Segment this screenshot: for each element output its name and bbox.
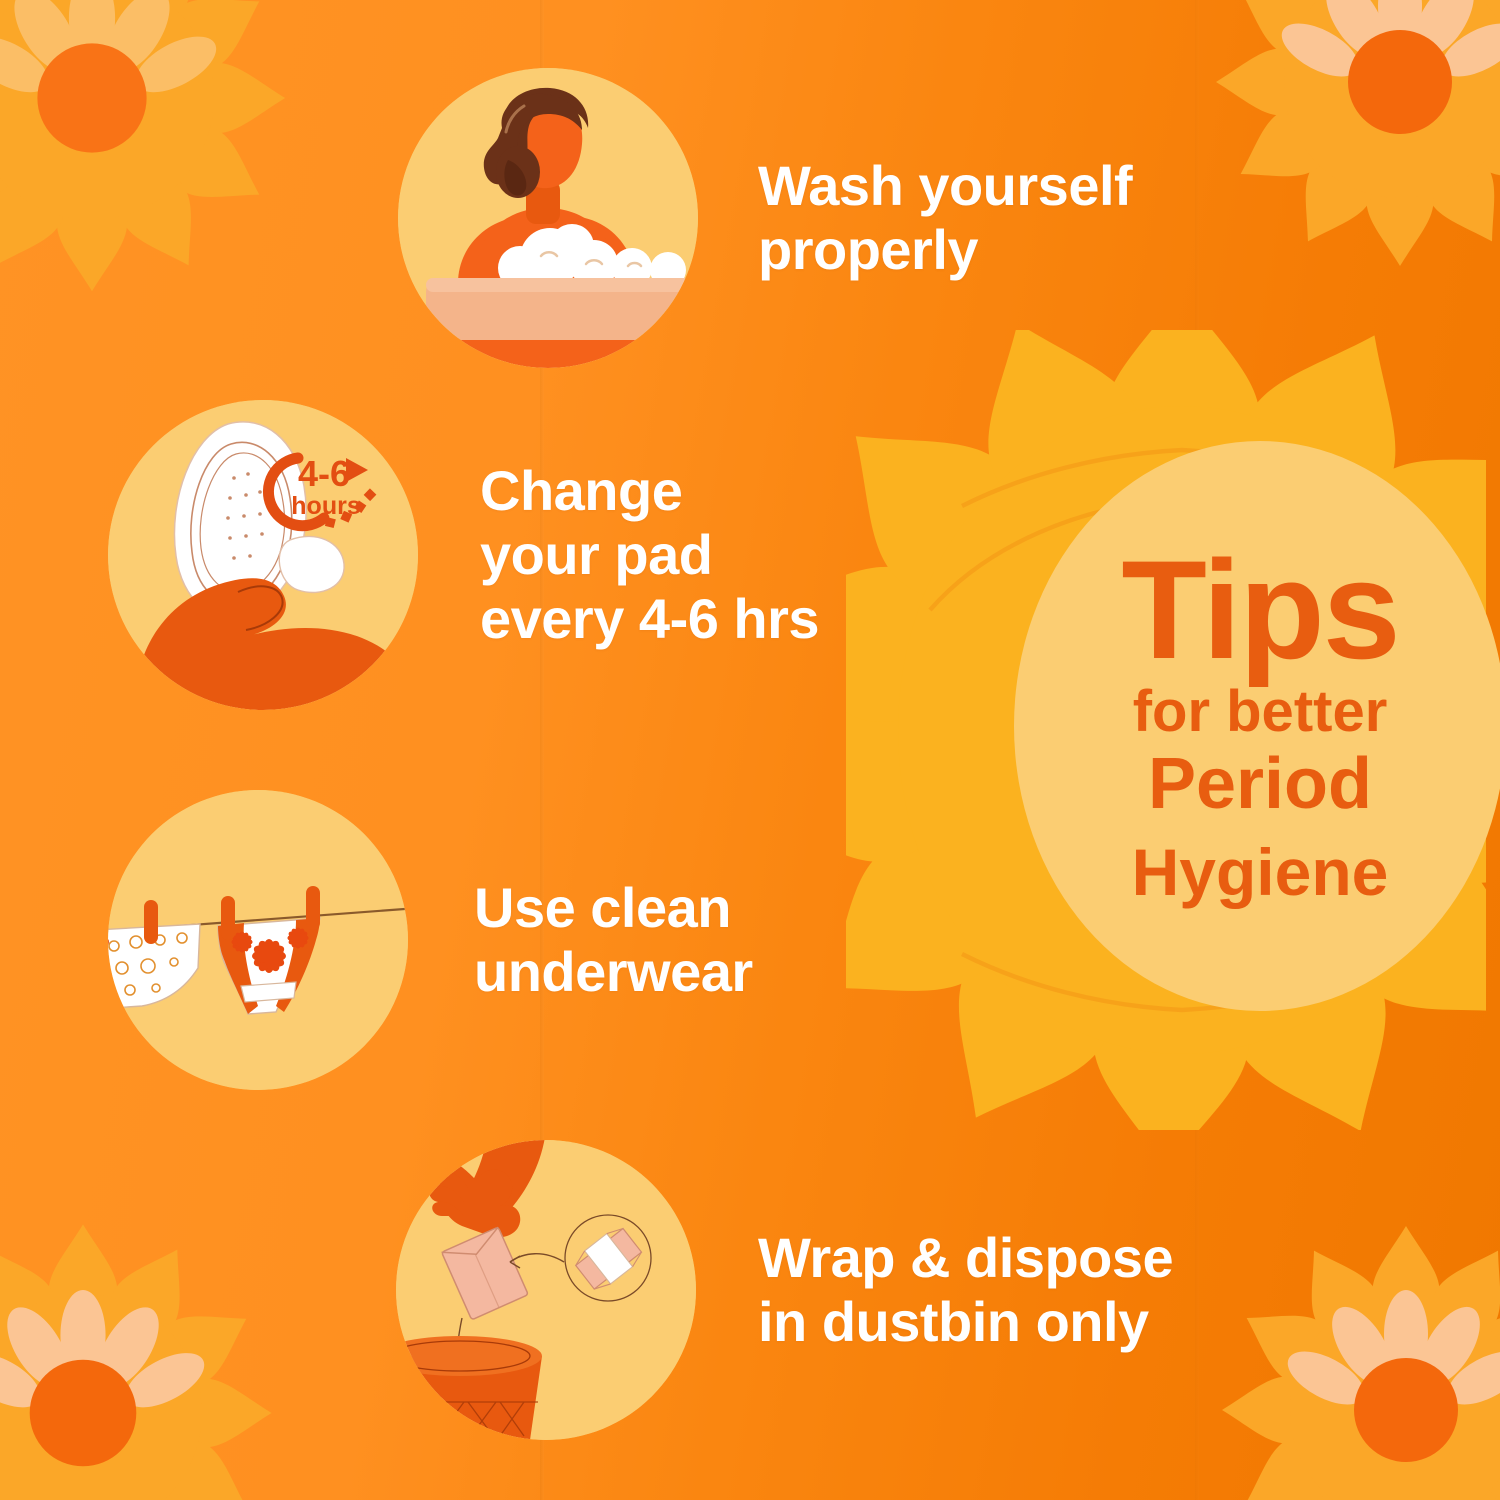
- tip-item-wash: Wash yourself properly: [398, 68, 1132, 368]
- tip-label-clean-underwear: Use clean underwear: [474, 876, 753, 1004]
- title-subline-2: Period: [1148, 745, 1372, 824]
- underwear-on-clothesline-illustration: [108, 790, 408, 1090]
- tip-label-wash: Wash yourself properly: [758, 154, 1132, 282]
- woman-in-bathtub-illustration: [398, 68, 698, 368]
- lotus-mandala-ornament-top-right: [1200, 0, 1500, 282]
- sanitary-pad-in-hand-illustration: 4-6 hours: [108, 400, 418, 710]
- tip-item-clean-underwear: Use clean underwear: [108, 790, 753, 1090]
- tip-label-change-pad: Change your pad every 4-6 hrs: [480, 459, 819, 650]
- tip-item-change-pad: 4-6 hours Change your pad every 4-6 hrs: [108, 400, 819, 710]
- poster-canvas: Tips for better Period Hygiene: [0, 0, 1500, 1500]
- tip-item-wrap-dispose: Wrap & dispose in dustbin only: [396, 1140, 1173, 1440]
- pad-change-badge-hours-label: hours: [291, 492, 360, 520]
- tip-label-wrap-dispose: Wrap & dispose in dustbin only: [758, 1226, 1173, 1354]
- title-subline-1: for better: [1133, 682, 1388, 743]
- hand-dropping-wrapped-pad-in-dustbin-illustration: [396, 1140, 696, 1440]
- pad-change-badge-hours-number: 4-6: [298, 453, 350, 494]
- lotus-mandala-ornament-top-left: [0, 0, 302, 308]
- lotus-mandala-ornament-bottom-left: [0, 1208, 288, 1500]
- tips-title-badge: Tips for better Period Hygiene: [1014, 441, 1500, 1011]
- page-title: Tips: [1121, 543, 1398, 676]
- lotus-mandala-ornament-bottom-right: [1206, 1210, 1500, 1500]
- title-subline-3: Hygiene: [1132, 836, 1389, 909]
